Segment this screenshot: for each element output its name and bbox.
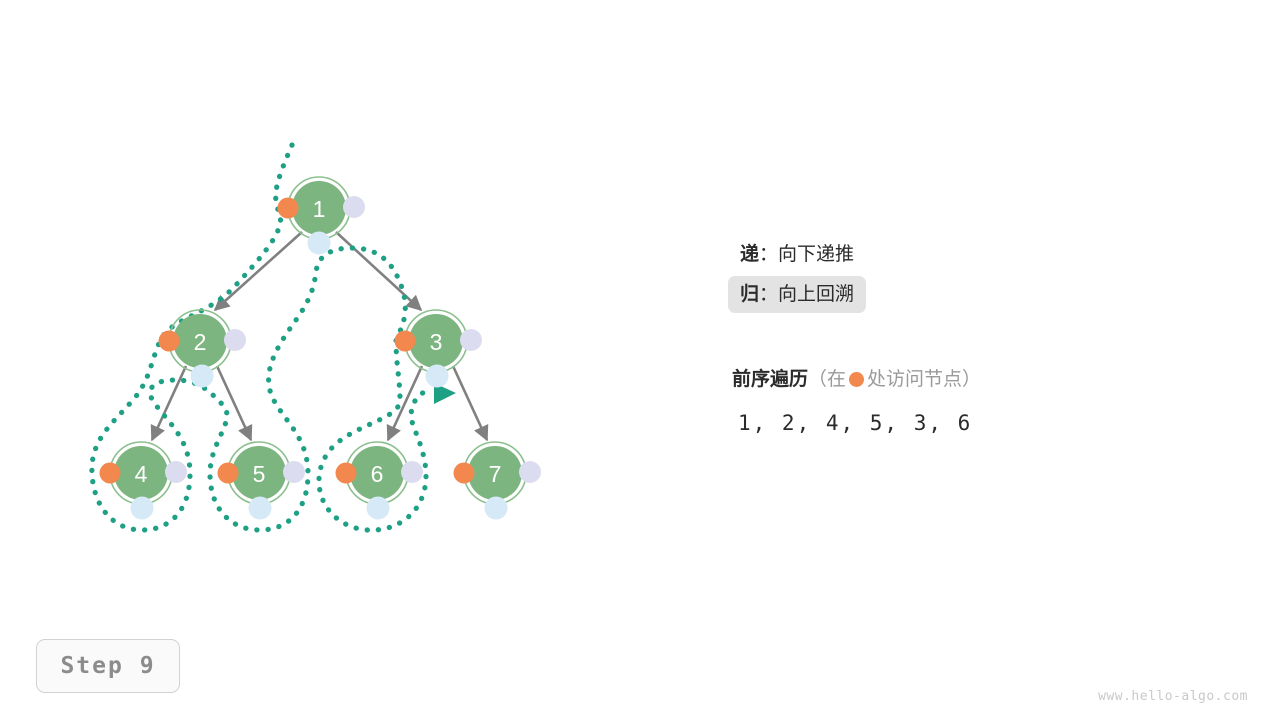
tree-node-6[interactable]: 6 [336,442,424,520]
node-6-bottom-dot [367,497,390,520]
node-4-label: 4 [135,461,148,487]
node-6-right-dot [401,461,423,483]
node-1-label: 1 [313,196,326,222]
node-2-label: 2 [194,329,207,355]
binary-tree-diagram: 1 2 3 [0,0,1280,720]
node-7-right-dot [519,461,541,483]
edge-1-2 [215,232,302,310]
node-7-bottom-dot [485,497,508,520]
node-5-bottom-dot [249,497,272,520]
legend-panel: 递：向下递推 归：向上回溯 [728,236,1208,328]
tree-node-4[interactable]: 4 [100,442,188,520]
node-4-visit-dot [100,463,121,484]
node-1-bottom-dot [308,232,331,255]
node-3-visit-dot [395,331,416,352]
edge-3-6 [388,366,422,440]
node-1-right-dot [343,196,365,218]
tree-node-7[interactable]: 7 [454,442,542,520]
node-7-visit-dot [454,463,475,484]
legend-backtrack-keyword: 归 [740,284,759,305]
diagram-stage: 1 2 3 [0,0,1280,720]
node-5-label: 5 [253,461,266,487]
edge-1-3 [336,232,421,310]
node-4-bottom-dot [131,497,154,520]
edge-2-4 [152,366,186,440]
node-1-visit-dot [278,198,299,219]
legend-row-backtrack: 归：向上回溯 [728,276,1208,328]
node-2-right-dot [224,329,246,351]
node-6-label: 6 [371,461,384,487]
watermark: www.hello-algo.com [1098,689,1248,704]
node-2-bottom-dot [191,365,214,388]
legend-backtrack-desc: ：向上回溯 [759,284,854,305]
traversal-title-prefix: （在 [808,369,846,390]
legend-backtrack-text: 归：向上回溯 [728,276,866,313]
visit-dot-icon [849,372,864,387]
step-badge: Step 9 [36,639,180,693]
legend-recurse-keyword: 递 [740,244,759,265]
tree-node-2[interactable]: 2 [159,310,247,388]
tree-node-3[interactable]: 3 [395,310,483,388]
node-3-bottom-dot [426,365,449,388]
node-3-right-dot [460,329,482,351]
node-4-right-dot [165,461,187,483]
traversal-title-name: 前序遍历 [732,369,808,390]
traversal-title: 前序遍历（在处访问节点） [732,364,981,391]
traversal-sequence: 1, 2, 4, 5, 3, 6 [738,411,972,435]
node-6-visit-dot [336,463,357,484]
legend-recurse-text: 递：向下递推 [728,236,866,273]
node-2-visit-dot [159,331,180,352]
legend-recurse-desc: ：向下递推 [759,244,854,265]
legend-row-recurse: 递：向下递推 [728,236,1208,276]
traversal-title-suffix: 处访问节点） [867,369,981,390]
node-5-right-dot [283,461,305,483]
node-3-label: 3 [430,329,443,355]
node-5-visit-dot [218,463,239,484]
edge-3-7 [453,366,487,440]
node-7-label: 7 [489,461,502,487]
tree-node-5[interactable]: 5 [218,442,306,520]
